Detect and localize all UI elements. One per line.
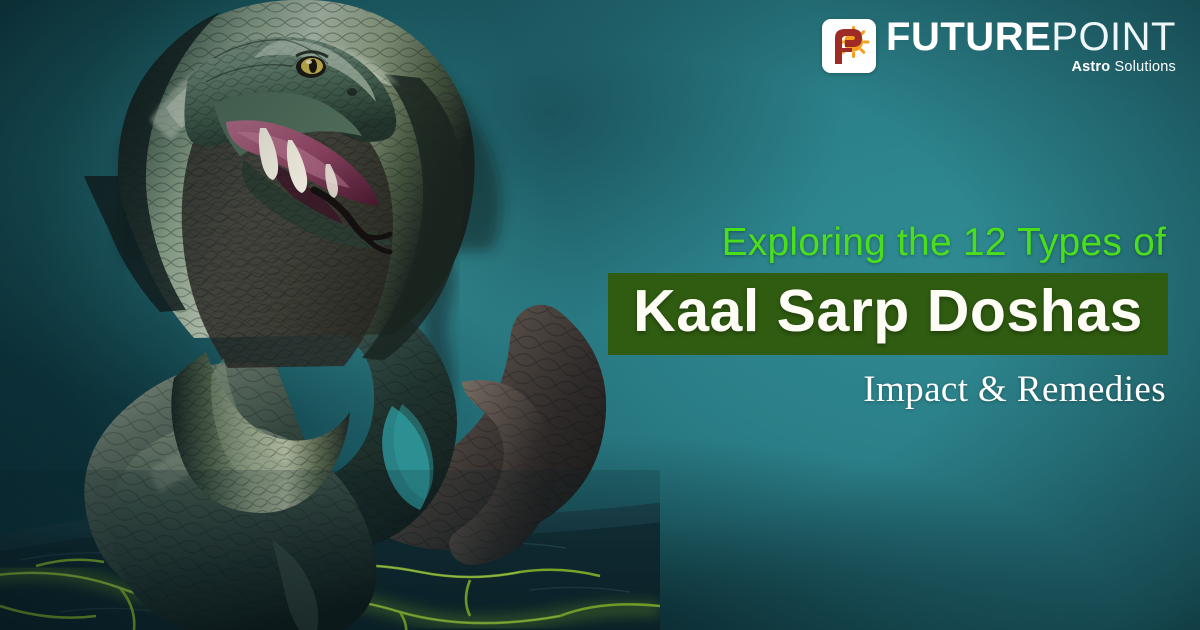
logo-word-bold: FUTURE bbox=[886, 15, 1051, 59]
logo-tagline-light: Solutions bbox=[1115, 59, 1176, 75]
logo-wordmark: FUTUREPOINT Astro Solutions bbox=[886, 18, 1176, 75]
logo-word: FUTUREPOINT bbox=[886, 18, 1176, 57]
blog-banner: FUTUREPOINT Astro Solutions Exploring th… bbox=[0, 0, 1200, 630]
logo-tagline-bold: Astro bbox=[1071, 59, 1110, 75]
futurepoint-sun-logo-icon bbox=[822, 19, 876, 73]
headline-line-1: Exploring the 12 Types of bbox=[608, 222, 1168, 264]
headline-block: Exploring the 12 Types of Kaal Sarp Dosh… bbox=[608, 222, 1168, 412]
logo-word-light: POINT bbox=[1051, 15, 1176, 59]
headline-highlight-band: Kaal Sarp Doshas bbox=[608, 273, 1168, 355]
logo-tagline: Astro Solutions bbox=[1071, 59, 1176, 75]
headline-line-3: Impact & Remedies bbox=[608, 368, 1168, 412]
futurepoint-logo[interactable]: FUTUREPOINT Astro Solutions bbox=[822, 18, 1176, 75]
headline-main-title: Kaal Sarp Doshas bbox=[622, 280, 1154, 344]
king-cobra-illustration bbox=[0, 0, 660, 630]
